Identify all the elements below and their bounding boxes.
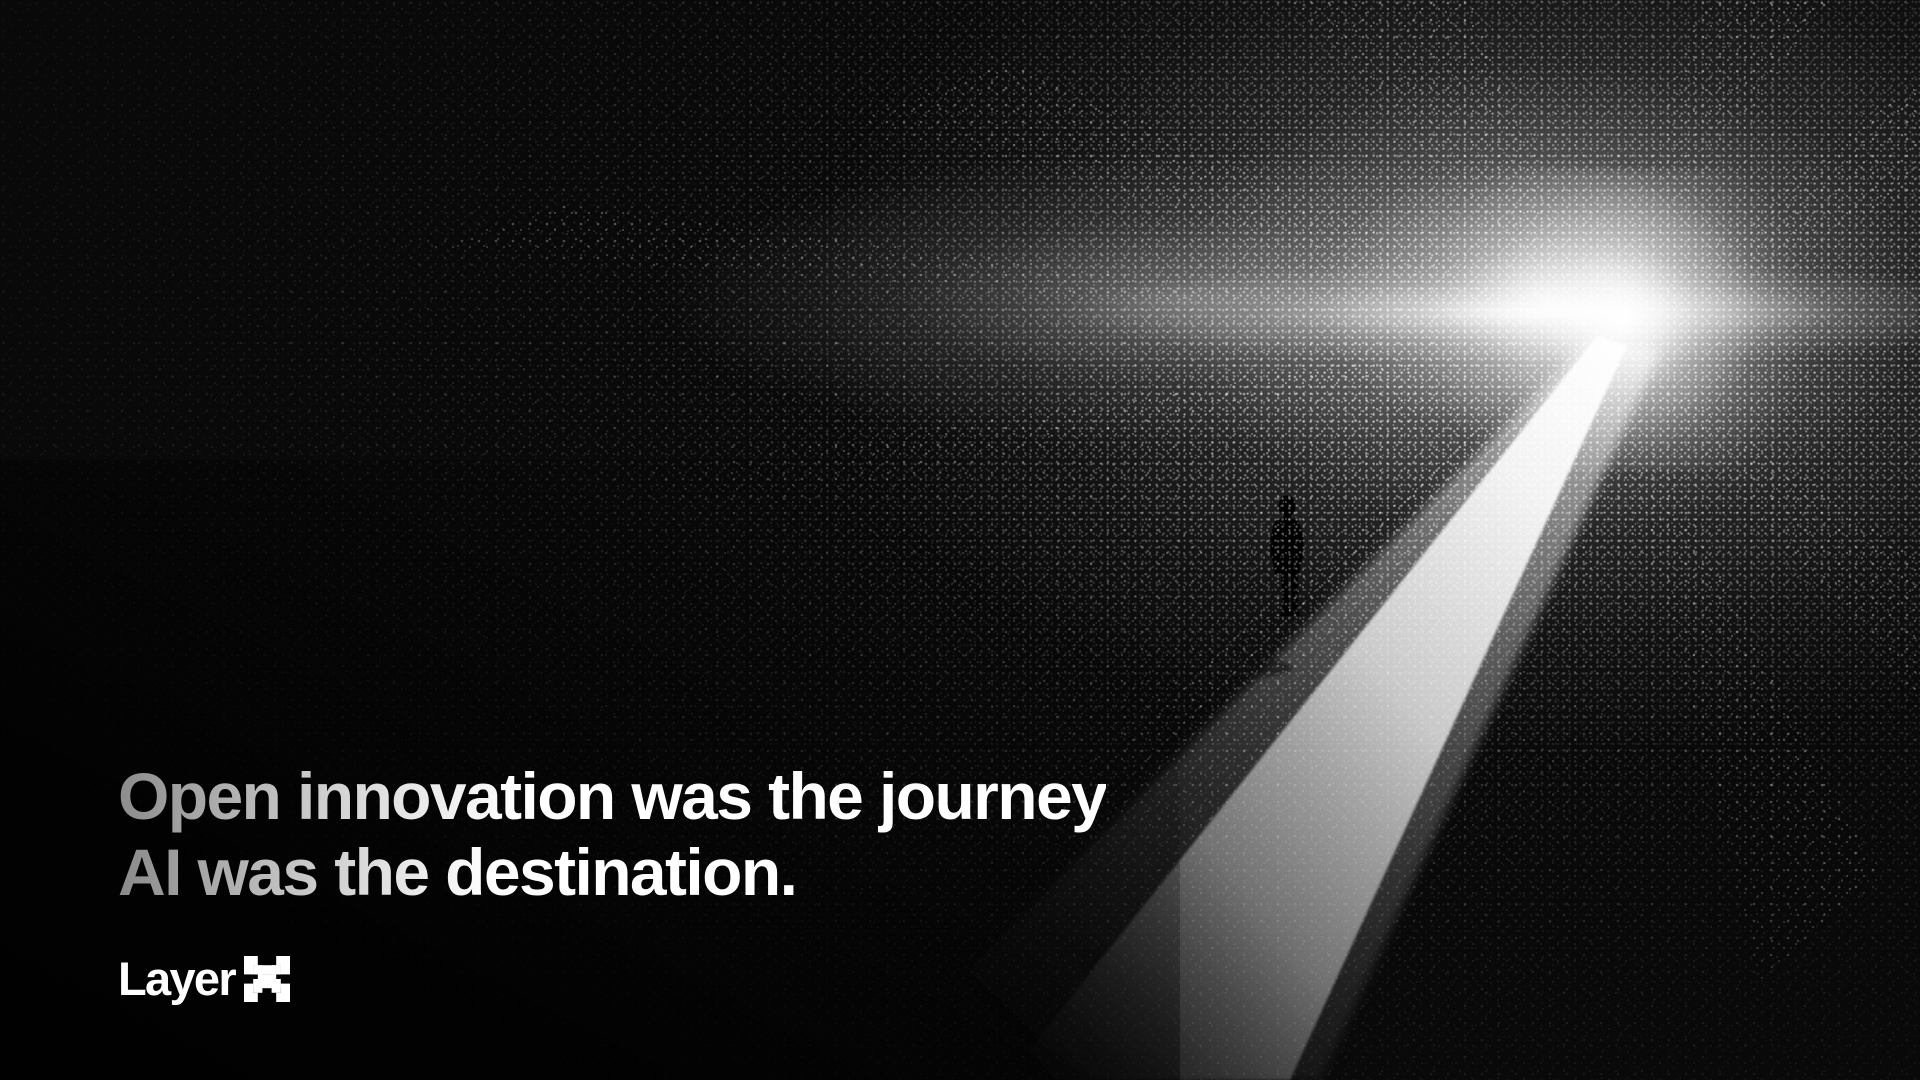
layerx-blocky-x-mark	[243, 956, 291, 1002]
headline-line-2: AI was the destination.	[118, 834, 1106, 911]
content-block: Open innovation was the journey AI was t…	[118, 758, 1106, 1002]
headline-line-1: Open innovation was the journey	[118, 758, 1106, 835]
page-title: Open innovation was the journey AI was t…	[118, 758, 1106, 911]
logo-wordmark: Layer	[118, 955, 235, 1002]
brand-logo[interactable]: Layer	[118, 955, 1106, 1002]
poster-canvas: Open innovation was the journey AI was t…	[0, 0, 1920, 1080]
